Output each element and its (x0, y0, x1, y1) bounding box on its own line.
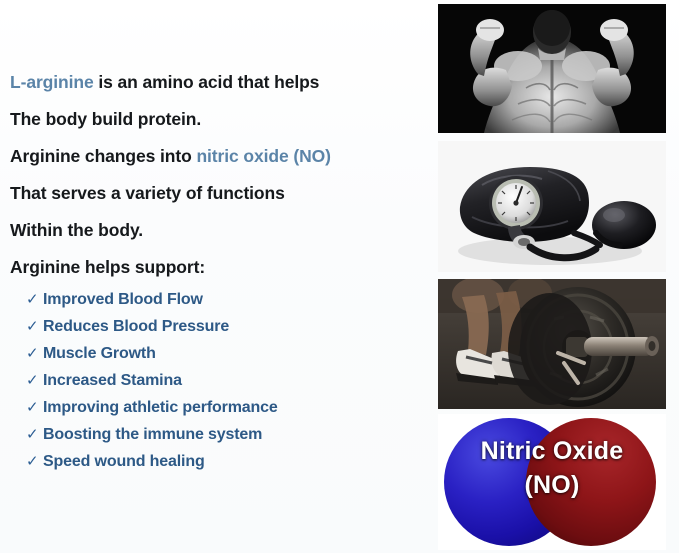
benefit-label: Boosting the immune system (43, 421, 262, 448)
benefit-label: Speed wound healing (43, 448, 205, 475)
text-column: L-arginine is an amino acid that helps T… (0, 0, 432, 553)
muscle-back-photo (438, 4, 666, 133)
check-icon: ✓ (26, 421, 43, 448)
nitric-oxide-subtitle: (NO) (438, 468, 666, 502)
paragraph-line-2: The body build protein. (10, 101, 425, 138)
check-icon: ✓ (26, 394, 43, 421)
paragraph-line-5: Within the body. (10, 212, 425, 249)
nitric-oxide-title: Nitric Oxide (438, 434, 666, 468)
list-item: ✓ Increased Stamina (26, 367, 426, 394)
paragraph-line-1-rest: is an amino acid that helps (94, 72, 320, 92)
check-icon: ✓ (26, 367, 43, 394)
benefit-label: Muscle Growth (43, 340, 156, 367)
l-arginine-highlight: L-arginine (10, 72, 94, 92)
paragraph-line-5-text: Within the body. (10, 220, 143, 240)
list-item: ✓ Improved Blood Flow (26, 286, 426, 313)
list-item: ✓ Boosting the immune system (26, 421, 426, 448)
photo-column: Nitric Oxide (NO) (438, 0, 679, 553)
benefits-list: ✓ Improved Blood Flow ✓ Reduces Blood Pr… (26, 286, 426, 475)
paragraph-line-3: Arginine changes into nitric oxide (NO) (10, 138, 425, 175)
paragraph-line-6: Arginine helps support: (10, 249, 425, 286)
blood-pressure-photo-graphic (438, 141, 666, 272)
benefit-label: Improving athletic performance (43, 394, 278, 421)
nitric-oxide-badge: Nitric Oxide (NO) (438, 414, 666, 550)
barbell-photo-graphic (438, 279, 666, 409)
paragraph-line-2-text: The body build protein. (10, 109, 201, 129)
check-icon: ✓ (26, 313, 43, 340)
blood-pressure-photo (438, 141, 666, 272)
check-icon: ✓ (26, 286, 43, 313)
check-icon: ✓ (26, 340, 43, 367)
list-item: ✓ Improving athletic performance (26, 394, 426, 421)
infographic-page: L-arginine is an amino acid that helps T… (0, 0, 679, 553)
barbell-photo (438, 279, 666, 409)
check-icon: ✓ (26, 448, 43, 475)
paragraph-line-3-lead: Arginine changes into (10, 146, 196, 166)
benefits-heading: Arginine helps support: (10, 257, 205, 277)
nitric-oxide-graphic: Nitric Oxide (NO) (438, 414, 666, 550)
nitric-oxide-highlight: nitric oxide (NO) (196, 146, 330, 166)
nitric-oxide-label: Nitric Oxide (NO) (438, 434, 666, 502)
list-item: ✓ Muscle Growth (26, 340, 426, 367)
benefit-label: Improved Blood Flow (43, 286, 203, 313)
paragraph-line-4: That serves a variety of functions (10, 175, 425, 212)
muscle-back-photo-graphic (438, 4, 666, 133)
paragraph-line-4-text: That serves a variety of functions (10, 183, 285, 203)
intro-paragraph: L-arginine is an amino acid that helps T… (10, 64, 425, 286)
list-item: ✓ Reduces Blood Pressure (26, 313, 426, 340)
list-item: ✓ Speed wound healing (26, 448, 426, 475)
paragraph-line-1: L-arginine is an amino acid that helps (10, 64, 425, 101)
benefit-label: Reduces Blood Pressure (43, 313, 229, 340)
benefit-label: Increased Stamina (43, 367, 182, 394)
